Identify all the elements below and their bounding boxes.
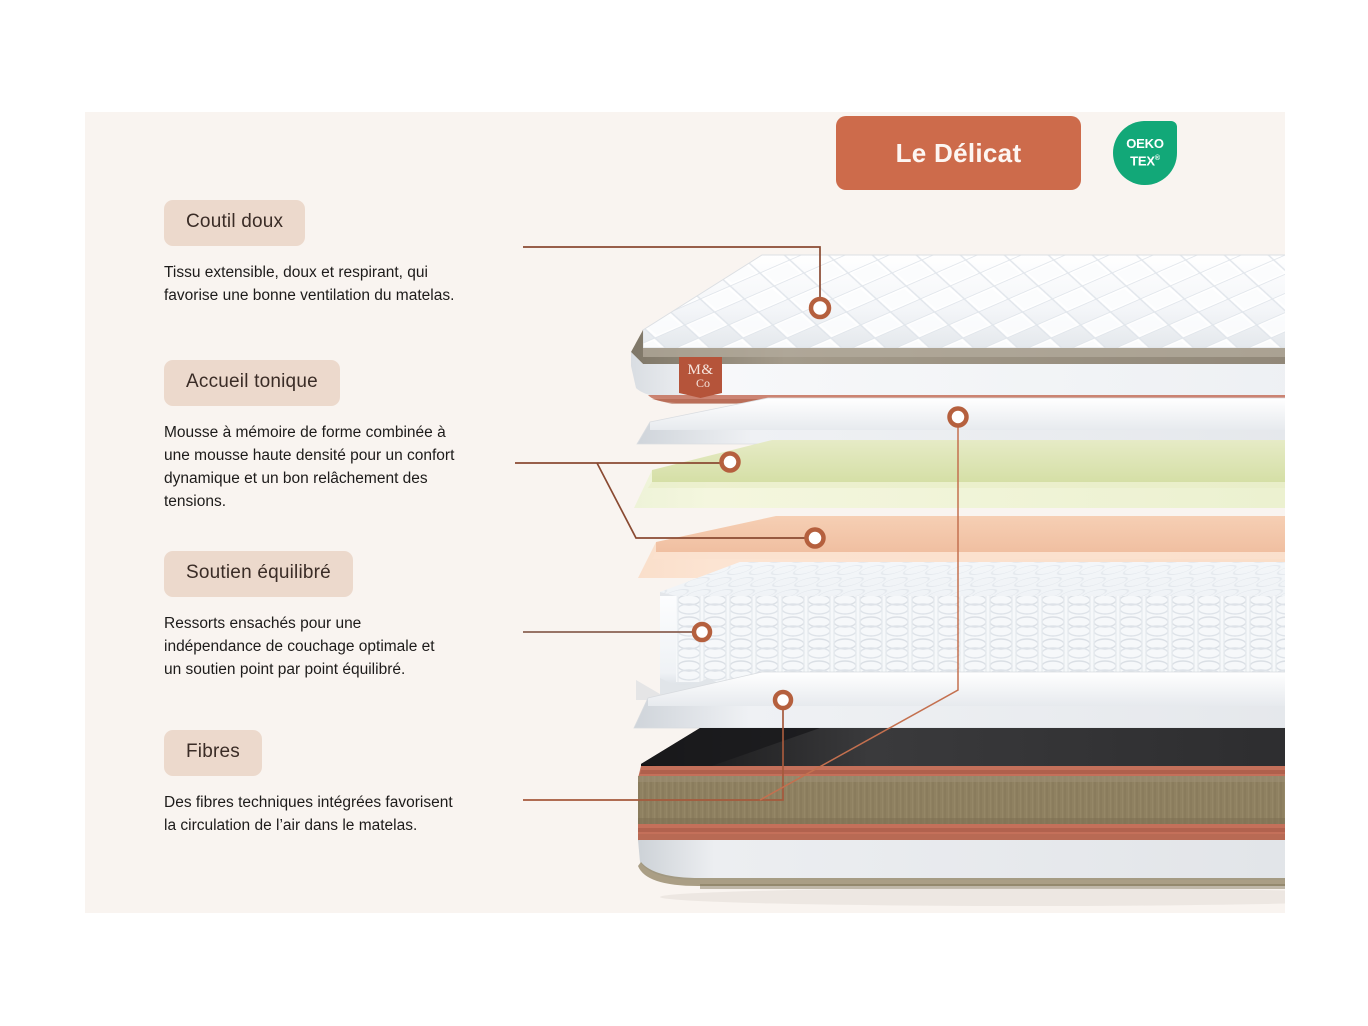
oeko-tex-line1: OEKO [1126,137,1163,151]
desc-line: la circulation de l’air dans le matelas. [164,814,453,837]
desc-line: Mousse à mémoire de forme combinée à [164,421,454,444]
infographic-canvas: M& Co [0,0,1368,1026]
feature-section-coutil-doux: Coutil doux Tissu extensible, doux et re… [164,200,454,307]
feature-description-accueil-tonique: Mousse à mémoire de forme combinée à une… [164,421,454,513]
desc-line: un soutien point par point équilibré. [164,658,435,681]
desc-line: Ressorts ensachés pour une [164,612,435,635]
feature-description-coutil-doux: Tissu extensible, doux et respirant, qui… [164,261,454,307]
feature-chip-soutien-equilibre: Soutien équilibré [164,551,353,597]
registered-mark: ® [1155,155,1160,162]
feature-chip-fibres: Fibres [164,730,262,776]
feature-section-fibres: Fibres Des fibres techniques intégrées f… [164,730,453,837]
feature-section-soutien-equilibre: Soutien équilibré Ressorts ensachés pour… [164,551,435,681]
feature-chip-coutil-doux: Coutil doux [164,200,305,246]
feature-description-soutien-equilibre: Ressorts ensachés pour une indépendance … [164,612,435,681]
oeko-tex-badge: OEKO TEX® [1113,121,1177,185]
desc-line: une mousse haute densité pour un confort [164,444,454,467]
desc-line: Tissu extensible, doux et respirant, qui [164,261,454,284]
feature-section-accueil-tonique: Accueil tonique Mousse à mémoire de form… [164,360,454,513]
feature-description-fibres: Des fibres techniques intégrées favorise… [164,791,453,837]
page-title: Le Délicat [896,138,1022,169]
desc-line: indépendance de couchage optimale et [164,635,435,658]
product-title-badge: Le Délicat [836,116,1081,190]
desc-line: favorise une bonne ventilation du matela… [164,284,454,307]
desc-line: tensions. [164,490,454,513]
oeko-tex-line2: TEX® [1130,152,1160,168]
feature-chip-accueil-tonique: Accueil tonique [164,360,340,406]
desc-line: dynamique et un bon relâchement des [164,467,454,490]
desc-line: Des fibres techniques intégrées favorise… [164,791,453,814]
